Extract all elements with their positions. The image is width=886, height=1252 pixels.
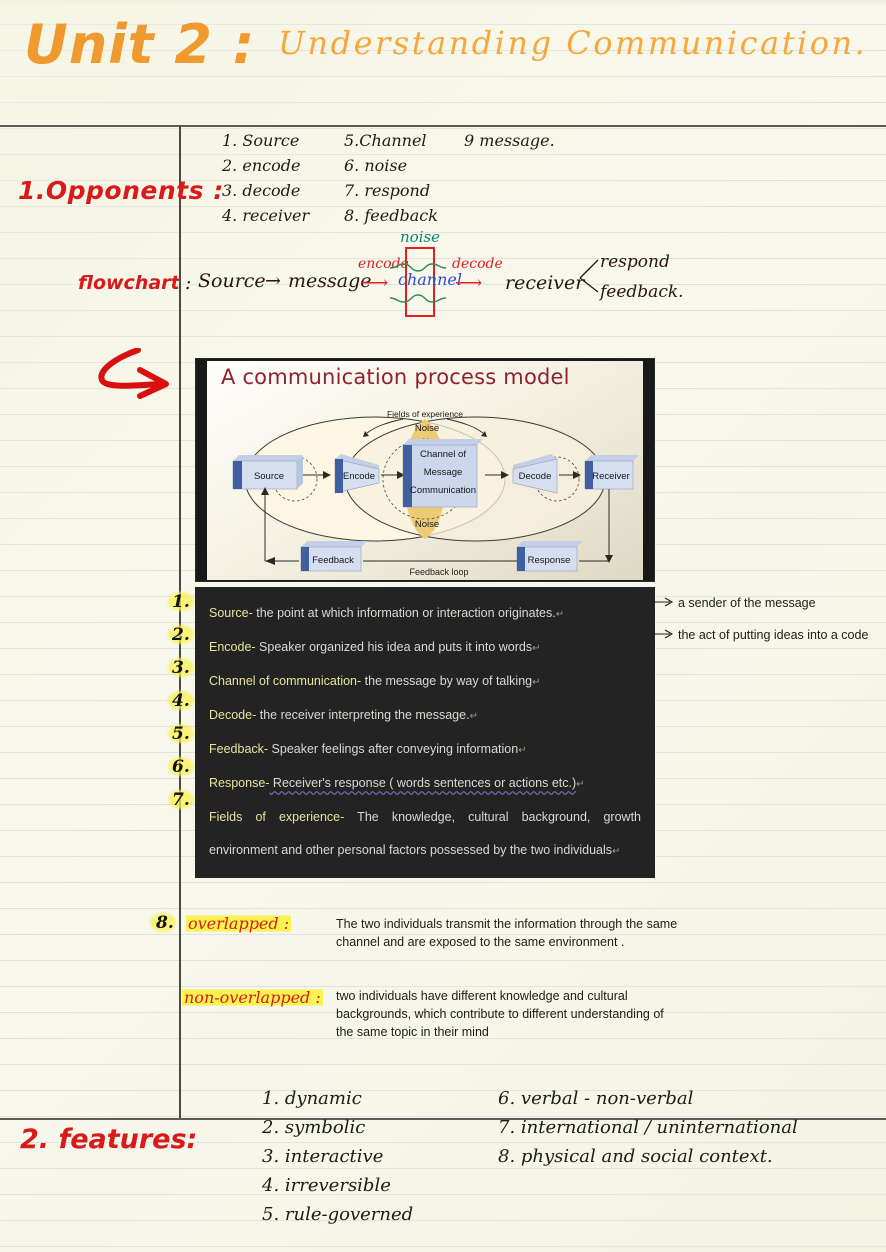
def-number: 2. — [172, 625, 194, 645]
def-number: 4. — [172, 691, 194, 711]
overlapped-body-line: channel and are exposed to the same envi… — [336, 933, 766, 951]
page-title-unit: Unit 2 : — [24, 18, 255, 72]
svg-text:Communication: Communication — [410, 485, 476, 496]
svg-text:Channel of: Channel of — [420, 449, 466, 460]
definition-text: the point at which information or intera… — [253, 606, 556, 620]
flowchart-colon: : — [185, 272, 191, 294]
flowchart-arrow-1: → — [265, 270, 281, 292]
svg-text:Message: Message — [424, 467, 463, 478]
definition-term: Response- — [209, 776, 269, 790]
definition-term: Decode- — [209, 708, 256, 722]
flowchart: flowchart : Source → message encode ⟶ no… — [0, 228, 886, 334]
feature-item: 6. verbal - non-verbal — [498, 1088, 693, 1109]
def-number: 3. — [172, 658, 194, 678]
feature-item: 2. symbolic — [262, 1117, 365, 1138]
section-opponents-label: 1.Opponents : — [18, 176, 224, 205]
feature-item: 4. irreversible — [262, 1175, 391, 1196]
non-overlapped-body: two individuals have different knowledge… — [336, 987, 766, 1041]
slide-content: A communication process model Fields of … — [207, 361, 643, 580]
term-row: 3. decode 7. respond — [222, 181, 642, 206]
term-row: 1. Source 5.Channel 9 message. — [222, 131, 642, 156]
svg-text:Encode: Encode — [343, 471, 375, 482]
definition-text: Speaker feelings after conveying informa… — [268, 742, 518, 756]
definition-row: Channel of communication- the message by… — [209, 665, 641, 699]
pilcrow-icon: ↵ — [532, 677, 540, 688]
term-cell: 7. respond — [344, 181, 464, 200]
pilcrow-icon: ↵ — [556, 609, 564, 620]
definition-term: Feedback- — [209, 742, 268, 756]
header-rule — [0, 125, 886, 127]
flowchart-label-decode: decode — [452, 256, 503, 272]
flowchart-arrow-3: ⟶ — [455, 272, 482, 294]
definition-text: Speaker organized his idea and puts it i… — [256, 640, 533, 654]
svg-text:Fields of experience: Fields of experience — [387, 409, 463, 419]
annotation-text: a sender of the message — [678, 596, 816, 610]
pilcrow-icon: ↵ — [612, 846, 620, 857]
definition-row-fields: Fields of experience- The knowledge, cul… — [209, 801, 641, 868]
overlapped-number: 8. — [156, 913, 174, 933]
definition-row: Response- Receiver's response ( words se… — [209, 767, 641, 801]
feature-item: 8. physical and social context. — [498, 1146, 773, 1167]
section-features-label: 2. features: — [20, 1124, 197, 1155]
overlapped-body-line: The two individuals transmit the informa… — [336, 915, 766, 933]
def-number: 1. — [172, 592, 194, 612]
def-number: 5. — [172, 724, 194, 744]
pilcrow-icon: ↵ — [576, 779, 584, 790]
term-cell: 1. Source — [222, 131, 344, 150]
definition-term: Source- — [209, 606, 253, 620]
svg-text:Noise: Noise — [415, 519, 439, 530]
communication-model-slide: A communication process model Fields of … — [195, 358, 655, 582]
term-row: 2. encode 6. noise — [222, 156, 642, 181]
definition-text: the receiver interpreting the message. — [256, 708, 469, 722]
definition-term: Channel of communication- — [209, 674, 361, 688]
non-overlapped-body-line: backgrounds, which contribute to differe… — [336, 1005, 766, 1023]
annotation-arrow-icon — [652, 596, 676, 608]
definition-row: Decode- the receiver interpreting the me… — [209, 699, 641, 733]
flowchart-node-message: message — [288, 270, 372, 292]
feature-item: 5. rule-governed — [262, 1204, 413, 1225]
definition-term: Encode- — [209, 640, 256, 654]
definition-text: the message by way of talking — [361, 674, 532, 688]
notebook-page: Unit 2 : Understanding Communication. 1.… — [0, 0, 886, 1252]
flowchart-node-source: Source — [198, 270, 266, 292]
overlapped-heading: overlapped : — [186, 914, 291, 933]
def-number: 7. — [172, 790, 194, 810]
flowchart-node-channel: channel — [398, 270, 462, 289]
slide-title: A communication process model — [221, 365, 621, 389]
term-cell: 3. decode — [222, 181, 344, 200]
pilcrow-icon: ↵ — [518, 745, 526, 756]
svg-text:Feedback: Feedback — [312, 555, 354, 566]
annotation-arrow-icon — [652, 628, 676, 640]
term-cell: 6. noise — [344, 156, 464, 175]
def-number: 6. — [172, 757, 194, 777]
communication-process-diagram: Fields of experience Source — [207, 409, 643, 577]
noise-squiggle-bottom-icon — [390, 294, 446, 304]
svg-text:Source: Source — [254, 471, 284, 482]
flowchart-branch-icon — [578, 258, 600, 294]
non-overlapped-body-line: the same topic in their mind — [336, 1023, 766, 1041]
term-cell: 9 message. — [464, 131, 624, 150]
term-cell: 8. feedback — [344, 206, 464, 225]
page-title-subject: Understanding Communication. — [278, 24, 867, 62]
svg-text:Response: Response — [528, 555, 571, 566]
overlapped-body: The two individuals transmit the informa… — [336, 915, 766, 951]
feature-item: 1. dynamic — [262, 1088, 362, 1109]
term-cell: 2. encode — [222, 156, 344, 175]
non-overlapped-body-line: two individuals have different knowledge… — [336, 987, 766, 1005]
svg-text:Decode: Decode — [519, 471, 552, 482]
svg-text:Receiver: Receiver — [592, 471, 630, 482]
flowchart-label-noise: noise — [400, 228, 440, 246]
pilcrow-icon: ↵ — [470, 711, 478, 722]
definition-row: Source- the point at which information o… — [209, 597, 641, 631]
definition-text: Receiver's response ( words sentences or… — [269, 776, 576, 790]
term-cell: 4. receiver — [222, 206, 344, 225]
definition-term: Fields of experience- — [209, 810, 344, 824]
flowchart-node-feedback: feedback. — [600, 282, 684, 302]
pilcrow-icon: ↵ — [532, 643, 540, 654]
opponents-term-list: 1. Source 5.Channel 9 message. 2. encode… — [222, 131, 642, 231]
term-cell: 5.Channel — [344, 131, 464, 150]
feature-item: 7. international / uninternational — [498, 1117, 798, 1138]
definition-row: Feedback- Speaker feelings after conveyi… — [209, 733, 641, 767]
feature-item: 3. interactive — [262, 1146, 383, 1167]
flowchart-node-respond: respond — [600, 252, 670, 272]
flowchart-arrow-2: ⟶ — [361, 272, 388, 294]
red-pointer-arrow-icon — [92, 348, 184, 400]
flowchart-label: flowchart — [78, 272, 180, 294]
definitions-block: Source- the point at which information o… — [195, 587, 655, 878]
definition-row: Encode- Speaker organized his idea and p… — [209, 631, 641, 665]
annotation-text: the act of putting ideas into a code — [678, 628, 868, 642]
non-overlapped-heading: non-overlapped : — [182, 988, 323, 1007]
svg-text:Feedback loop: Feedback loop — [409, 567, 468, 577]
flowchart-node-receiver: receiver — [505, 272, 584, 294]
svg-text:Noise: Noise — [415, 423, 439, 434]
